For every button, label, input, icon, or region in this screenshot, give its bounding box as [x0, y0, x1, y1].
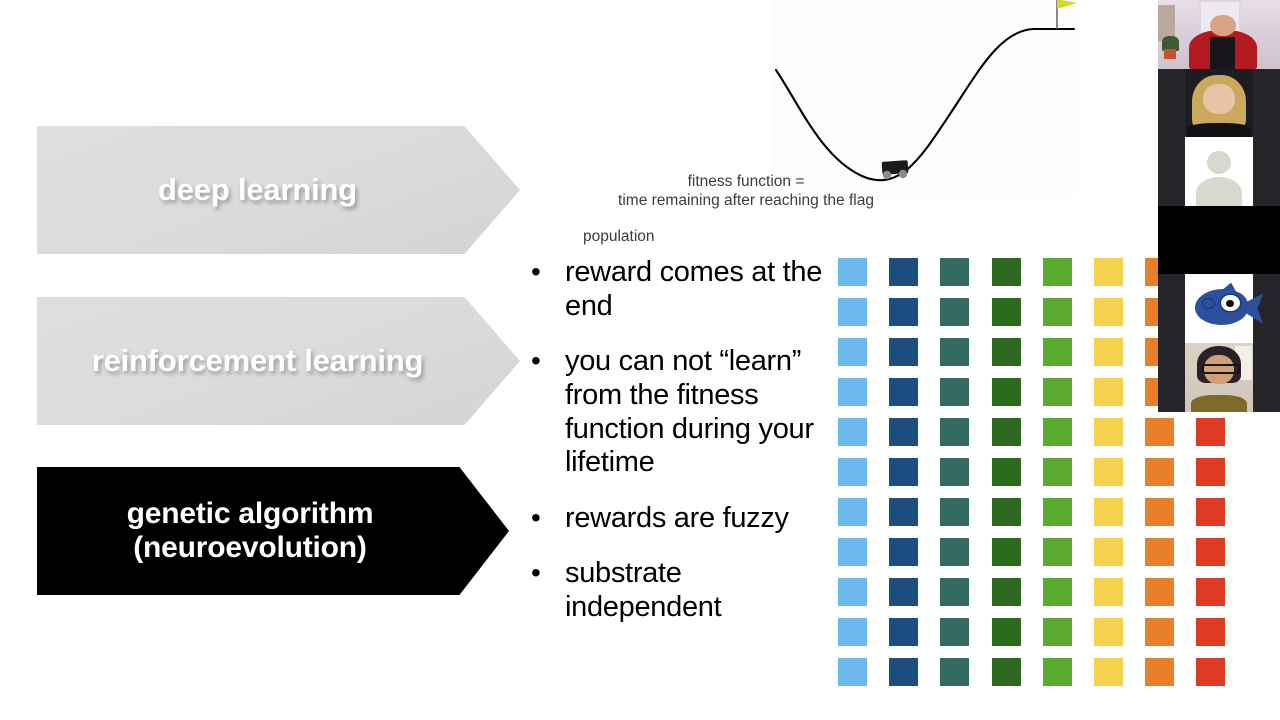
arrow-banner-deep-learning[interactable]: deep learning	[37, 126, 520, 254]
population-column	[838, 258, 867, 698]
population-cell	[889, 578, 918, 606]
population-cell	[1043, 658, 1072, 686]
population-cell	[1043, 498, 1072, 526]
population-cell	[1145, 458, 1174, 486]
population-cell	[1094, 378, 1123, 406]
camera-off-placeholder	[1158, 206, 1280, 275]
population-cell	[1196, 578, 1225, 606]
population-cell	[992, 298, 1021, 326]
population-cell	[889, 618, 918, 646]
population-cell	[889, 538, 918, 566]
population-cell	[992, 498, 1021, 526]
bullet-dot-icon: •	[531, 256, 565, 288]
population-cell	[940, 378, 969, 406]
population-cell	[1094, 298, 1123, 326]
population-cell	[838, 418, 867, 446]
population-cell	[992, 418, 1021, 446]
fish-icon	[1158, 274, 1280, 343]
population-cell	[838, 458, 867, 486]
population-cell	[1094, 618, 1123, 646]
fitness-function-caption: fitness function =time remaining after r…	[578, 172, 914, 211]
presentation-slide: deep learning reinforcement learning gen…	[0, 0, 1280, 720]
bullet-dot-icon: •	[531, 502, 565, 534]
population-label: population	[583, 227, 655, 246]
population-cell	[940, 338, 969, 366]
population-cell	[838, 658, 867, 686]
population-cell	[940, 618, 969, 646]
population-cell	[889, 658, 918, 686]
population-cell	[889, 458, 918, 486]
population-cell	[1094, 418, 1123, 446]
population-cell	[1196, 498, 1225, 526]
population-column	[940, 258, 969, 698]
video-tile-man-red-jacket[interactable]	[1158, 0, 1280, 69]
video-thumbnail	[1158, 69, 1280, 138]
population-cell	[940, 578, 969, 606]
video-tile-blue-fish-avatar[interactable]	[1158, 274, 1280, 343]
population-column	[1043, 258, 1072, 698]
population-cell	[940, 658, 969, 686]
population-cell	[992, 578, 1021, 606]
population-cell	[1094, 538, 1123, 566]
video-thumbnail	[1158, 0, 1280, 69]
population-column	[992, 258, 1021, 698]
population-cell	[1043, 338, 1072, 366]
population-cell	[1094, 498, 1123, 526]
population-cell	[1145, 498, 1174, 526]
population-cell	[1145, 578, 1174, 606]
video-tile-person-glasses[interactable]	[1158, 343, 1280, 412]
population-cell	[889, 258, 918, 286]
population-cell	[1196, 618, 1225, 646]
population-cell	[992, 618, 1021, 646]
video-thumbnail	[1158, 343, 1280, 412]
population-cell	[838, 298, 867, 326]
avatar-icon	[1158, 137, 1280, 206]
population-cell	[838, 618, 867, 646]
list-item: •substrate independent	[531, 557, 831, 624]
arrow-label-deep-learning: deep learning	[158, 173, 399, 208]
population-column	[1094, 258, 1123, 698]
population-cell	[1043, 258, 1072, 286]
video-tile-default-avatar[interactable]	[1158, 137, 1280, 206]
population-cell	[1196, 458, 1225, 486]
population-cell	[992, 378, 1021, 406]
population-cell	[889, 298, 918, 326]
population-cell	[838, 258, 867, 286]
population-column	[889, 258, 918, 698]
population-column	[1196, 418, 1225, 698]
population-cell	[1145, 618, 1174, 646]
list-item: •reward comes at the end	[531, 256, 831, 323]
population-cell	[1043, 458, 1072, 486]
list-item: •you can not “learn” from the fitness fu…	[531, 345, 831, 480]
arrow-label-reinforcement-learning: reinforcement learning	[92, 344, 466, 379]
population-cell	[940, 538, 969, 566]
list-item-label: rewards are fuzzy	[565, 502, 789, 536]
population-cell	[1094, 458, 1123, 486]
population-cell	[1094, 578, 1123, 606]
population-cell	[889, 338, 918, 366]
population-cell	[838, 378, 867, 406]
arrow-label-genetic-algorithm: genetic algorithm(neuroevolution)	[127, 497, 420, 564]
list-item-label: reward comes at the end	[565, 256, 831, 323]
population-cell	[1145, 658, 1174, 686]
bullet-dot-icon: •	[531, 557, 565, 589]
population-cell	[1043, 578, 1072, 606]
population-cell	[889, 498, 918, 526]
video-tile-woman-blond[interactable]	[1158, 69, 1280, 138]
bullet-dot-icon: •	[531, 345, 565, 377]
arrow-banner-reinforcement-learning[interactable]: reinforcement learning	[37, 297, 520, 425]
population-cell	[1196, 418, 1225, 446]
bullet-list: •reward comes at the end•you can not “le…	[531, 256, 831, 647]
population-cell	[1145, 538, 1174, 566]
population-cell	[838, 538, 867, 566]
population-cell	[992, 538, 1021, 566]
video-tile-camera-off[interactable]	[1158, 206, 1280, 275]
mountain-car-diagram	[772, 0, 1078, 196]
population-cell	[1043, 538, 1072, 566]
population-cell	[940, 458, 969, 486]
population-cell	[940, 298, 969, 326]
list-item: •rewards are fuzzy	[531, 502, 831, 536]
population-cell	[1196, 538, 1225, 566]
population-cell	[1043, 418, 1072, 446]
population-cell	[889, 378, 918, 406]
population-cell	[838, 498, 867, 526]
population-cell	[992, 338, 1021, 366]
population-cell	[1094, 658, 1123, 686]
population-cell	[992, 458, 1021, 486]
population-cell	[1043, 298, 1072, 326]
population-cell	[1094, 258, 1123, 286]
list-item-label: you can not “learn” from the fitness fun…	[565, 345, 831, 480]
population-cell	[940, 258, 969, 286]
video-call-participants-panel[interactable]	[1158, 0, 1280, 412]
population-cell	[1196, 658, 1225, 686]
population-cell	[1043, 618, 1072, 646]
list-item-label: substrate independent	[565, 557, 831, 624]
population-cell	[1094, 338, 1123, 366]
population-cell	[940, 498, 969, 526]
population-cell	[1145, 418, 1174, 446]
population-cell	[992, 258, 1021, 286]
population-cell	[838, 578, 867, 606]
population-cell	[940, 418, 969, 446]
population-cell	[838, 338, 867, 366]
population-cell	[1043, 378, 1072, 406]
population-cell	[889, 418, 918, 446]
arrow-banner-genetic-algorithm[interactable]: genetic algorithm(neuroevolution)	[37, 467, 509, 595]
population-cell	[992, 658, 1021, 686]
